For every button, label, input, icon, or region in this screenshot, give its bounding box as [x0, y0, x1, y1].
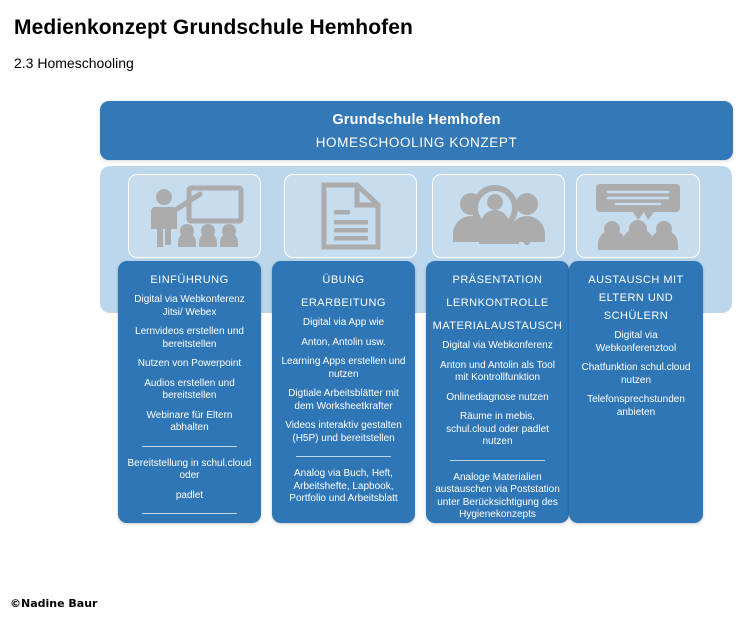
card-line: Audios erstellen und bereitstellen — [124, 378, 255, 403]
card-line: Learning Apps erstellen und nutzen — [278, 356, 409, 381]
card-uebung: ÜBUNG ERARBEITUNG Digital via App wie An… — [272, 261, 415, 523]
card-line: Bereitstellung in schul.cloud oder — [124, 458, 255, 483]
card-line: Analog via Buch, Heft, Arbeitshefte, Lap… — [278, 468, 409, 506]
card-einfuehrung: EINFÜHRUNG Digital via Webkonferenz Jits… — [118, 261, 261, 523]
card-divider — [142, 446, 236, 447]
card-line: Anton und Antolin als Tool mit Kontrollf… — [432, 360, 563, 385]
card-heading: MATERIALAUSTAUSCH — [432, 317, 563, 335]
speech-bubble-group-icon — [592, 182, 684, 250]
icon-box-austausch — [576, 174, 700, 258]
card-line: Analog via Schulbuch — [124, 525, 255, 538]
card-line: Lernvideos erstellen und bereitstellen — [124, 326, 255, 351]
icon-box-uebung — [284, 174, 417, 258]
card-heading: ERARBEITUNG — [278, 294, 409, 312]
card-line: padlet — [124, 490, 255, 503]
card-divider — [296, 456, 390, 457]
banner-subtitle: HOMESCHOOLING KONZEPT — [316, 135, 518, 150]
card-line: Videos interaktiv gestalten (H5P) und be… — [278, 420, 409, 445]
card-line: Anton, Antolin usw. — [278, 337, 409, 350]
card-divider — [142, 513, 236, 514]
card-line: Onlinediagnose nutzen — [432, 392, 563, 405]
card-line: Nutzen von Powerpoint — [124, 358, 255, 371]
card-line: Digital via Webkonferenz Jitsi/ Webex — [124, 294, 255, 319]
card-heading: EINFÜHRUNG — [124, 271, 255, 289]
card-line: Webinare für Eltern abhalten — [124, 410, 255, 435]
copyright-notice: ©Nadine Baur — [10, 597, 97, 610]
icon-box-praesentation — [432, 174, 565, 258]
card-heading: PRÄSENTATION — [432, 271, 563, 289]
card-line: Chatfunktion schul.cloud nutzen — [575, 362, 697, 387]
diagram-banner: Grundschule Hemhofen HOMESCHOOLING KONZE… — [100, 101, 733, 160]
card-line: Analoge Materialien austauschen via Post… — [432, 472, 563, 522]
card-divider — [450, 460, 544, 461]
card-line: Telefonsprechstunden anbieten — [575, 394, 697, 419]
card-line: Digital via Webkonferenztool — [575, 330, 697, 355]
homeschooling-diagram: Grundschule Hemhofen HOMESCHOOLING KONZE… — [0, 0, 756, 625]
people-magnifier-icon — [451, 184, 547, 248]
card-line: Digital via Webkonferenz — [432, 340, 563, 353]
icon-box-einfuehrung — [128, 174, 261, 258]
card-heading: AUSTAUSCH MIT ELTERN UND SCHÜLERN — [575, 271, 697, 325]
card-heading: ÜBUNG — [278, 271, 409, 289]
card-line: Räume in mebis, schul.cloud oder padlet … — [432, 411, 563, 449]
card-line: Digtiale Arbeitsblätter mit dem Workshee… — [278, 388, 409, 413]
card-heading: LERNKONTROLLE — [432, 294, 563, 312]
card-line: Digital via App wie — [278, 317, 409, 330]
document-page-icon — [320, 182, 382, 250]
card-austausch: AUSTAUSCH MIT ELTERN UND SCHÜLERN Digita… — [569, 261, 703, 523]
banner-title: Grundschule Hemhofen — [332, 112, 500, 128]
card-praesentation: PRÄSENTATION LERNKONTROLLE MATERIALAUSTA… — [426, 261, 569, 523]
teacher-blackboard-icon — [143, 185, 247, 247]
